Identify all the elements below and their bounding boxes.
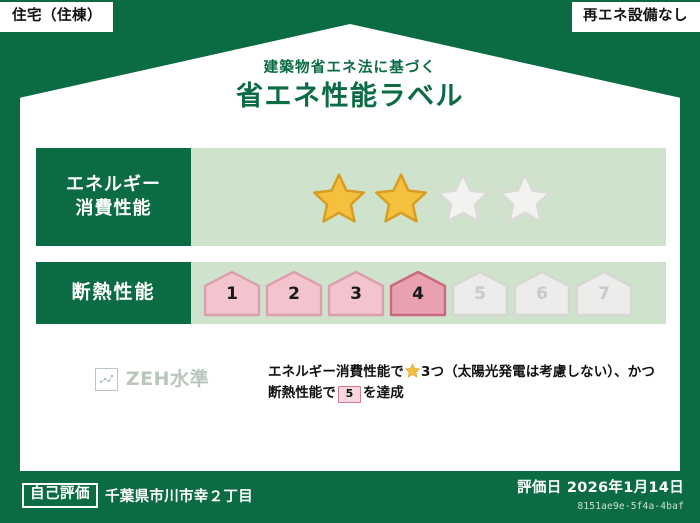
inline-level-badge: 5: [338, 386, 361, 403]
zeh-desc-part3: を達成: [363, 385, 404, 401]
insulation-level-badge: 5: [451, 269, 509, 317]
zeh-desc-part1: エネルギー消費性能で: [268, 364, 404, 380]
zeh-sparkle-icon: [95, 368, 118, 391]
energy-label-line1: エネルギー: [66, 173, 161, 197]
energy-label-line2: 消費性能: [76, 197, 152, 221]
insulation-level-number: 1: [203, 286, 261, 303]
insulation-level-number: 7: [575, 286, 633, 303]
insulation-level-number: 3: [327, 286, 385, 303]
zeh-description: エネルギー消費性能で3つ（太陽光発電は考慮しない）、かつ断熱性能で5を達成: [268, 362, 666, 404]
label-footer: 自己評価 千葉県市川市幸２丁目 評価日 2026年1月14日 8151ae9e-…: [0, 471, 700, 523]
page-title: 省エネ性能ラベル: [0, 81, 700, 112]
star-empty-icon: [436, 171, 490, 223]
insulation-level-badge: 6: [513, 269, 571, 317]
insulation-level-badge: 3: [327, 269, 385, 317]
star-filled-icon: [312, 171, 366, 223]
insulation-level-number: 6: [513, 286, 571, 303]
footer-right-group: 評価日 2026年1月14日 8151ae9e-5f4a-4baf: [517, 479, 684, 512]
insulation-level-badge: 2: [265, 269, 323, 317]
building-type-tag: 住宅（住棟）: [0, 2, 113, 32]
star-filled-icon: [374, 171, 428, 223]
zeh-standard-mark: ZEH水準: [36, 362, 268, 391]
insulation-performance-row: 断熱性能 1234567: [36, 262, 666, 324]
evaluation-date: 評価日 2026年1月14日: [517, 479, 684, 498]
insulation-level-number: 4: [389, 286, 447, 303]
evaluation-id: 8151ae9e-5f4a-4baf: [517, 501, 684, 512]
zeh-standard-block: ZEH水準 エネルギー消費性能で3つ（太陽光発電は考慮しない）、かつ断熱性能で5…: [36, 362, 666, 418]
star-rating: [191, 148, 666, 246]
zeh-standard-label: ZEH水準: [126, 370, 209, 389]
label-heading: 建築物省エネ法に基づく 省エネ性能ラベル: [0, 60, 700, 112]
footer-left-group: 自己評価 千葉県市川市幸２丁目: [22, 483, 253, 508]
energy-label-root: 住宅（住棟） 再エネ設備なし 建築物省エネ法に基づく 省エネ性能ラベル エネルギ…: [0, 0, 700, 523]
insulation-level-number: 5: [451, 286, 509, 303]
heading-subtitle: 建築物省エネ法に基づく: [0, 60, 700, 77]
insulation-level-badge: 4: [389, 269, 447, 317]
energy-performance-row: エネルギー 消費性能: [36, 148, 666, 246]
insulation-level-scale: 1234567: [191, 262, 666, 324]
property-address: 千葉県市川市幸２丁目: [105, 485, 253, 506]
insulation-performance-label: 断熱性能: [36, 262, 191, 324]
insulation-level-badge: 7: [575, 269, 633, 317]
energy-performance-label: エネルギー 消費性能: [36, 148, 191, 246]
star-empty-icon: [498, 171, 552, 223]
renewable-energy-tag: 再エネ設備なし: [572, 2, 700, 32]
insulation-level-number: 2: [265, 286, 323, 303]
self-evaluation-badge: 自己評価: [22, 483, 98, 508]
inline-star-icon: [405, 363, 420, 378]
insulation-level-badge: 1: [203, 269, 261, 317]
